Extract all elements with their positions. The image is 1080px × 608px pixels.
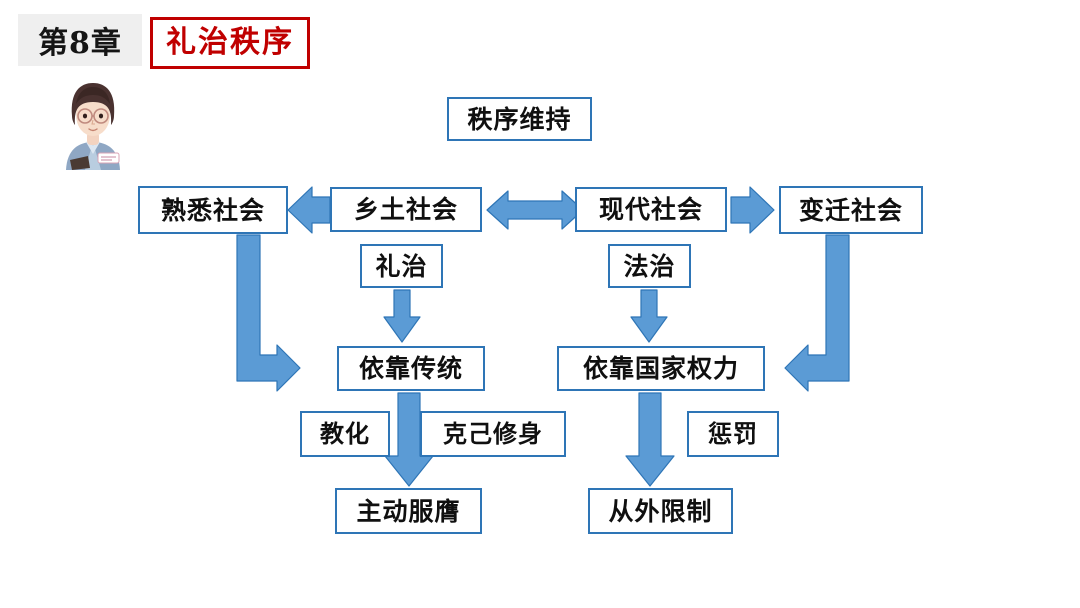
arrow-modern-to-changing bbox=[731, 187, 774, 233]
node-rural-society[interactable]: 乡土社会 bbox=[330, 187, 482, 232]
node-label: 从外限制 bbox=[608, 499, 712, 524]
node-punishment[interactable]: 惩罚 bbox=[687, 411, 779, 457]
node-rely-on-state-power[interactable]: 依靠国家权力 bbox=[557, 346, 765, 391]
arrow-rites-to-tradition bbox=[384, 290, 420, 342]
node-rule-by-law[interactable]: 法治 bbox=[608, 244, 691, 288]
node-familiar-society[interactable]: 熟悉社会 bbox=[138, 186, 288, 234]
arrow-changing-to-state-power-elbow bbox=[785, 235, 849, 391]
node-label: 变迁社会 bbox=[799, 198, 903, 223]
page-title: 礼治秩序 bbox=[166, 28, 294, 58]
node-label: 礼治 bbox=[375, 254, 427, 279]
node-label: 惩罚 bbox=[708, 422, 758, 446]
node-active-submission[interactable]: 主动服膺 bbox=[335, 488, 482, 534]
chapter-badge: 第8章 bbox=[18, 14, 142, 66]
node-label: 教化 bbox=[320, 422, 370, 446]
node-label: 现代社会 bbox=[599, 197, 703, 222]
arrow-state-power-to-restraint bbox=[626, 393, 674, 486]
node-changing-society[interactable]: 变迁社会 bbox=[779, 186, 923, 234]
avatar-icon bbox=[58, 76, 128, 170]
node-education[interactable]: 教化 bbox=[300, 411, 390, 457]
node-label: 克己修身 bbox=[443, 422, 543, 446]
connector-arrow-layer bbox=[0, 0, 1080, 608]
node-label: 法治 bbox=[623, 254, 675, 279]
arrow-rural-to-familiar bbox=[288, 187, 330, 233]
node-label: 熟悉社会 bbox=[161, 198, 265, 223]
node-label: 秩序维持 bbox=[467, 107, 571, 132]
node-label: 主动服膺 bbox=[356, 499, 460, 524]
arrow-rural-modern-double bbox=[487, 191, 583, 229]
slide-canvas: 第8章 礼治秩序 bbox=[0, 0, 1080, 608]
node-external-restraint[interactable]: 从外限制 bbox=[588, 488, 733, 534]
node-label: 依靠国家权力 bbox=[583, 356, 739, 381]
node-rule-by-rites[interactable]: 礼治 bbox=[360, 244, 443, 288]
node-rely-on-tradition[interactable]: 依靠传统 bbox=[337, 346, 485, 391]
node-order-maintenance[interactable]: 秩序维持 bbox=[447, 97, 592, 141]
slide-title-box: 礼治秩序 bbox=[150, 17, 310, 69]
node-modern-society[interactable]: 现代社会 bbox=[575, 187, 727, 232]
chapter-label: 第8章 bbox=[38, 18, 122, 62]
node-label: 依靠传统 bbox=[359, 356, 463, 381]
node-self-discipline[interactable]: 克己修身 bbox=[420, 411, 566, 457]
arrow-law-to-state-power bbox=[631, 290, 667, 342]
teacher-avatar bbox=[58, 76, 128, 170]
arrow-familiar-to-tradition-elbow bbox=[237, 235, 300, 391]
node-label: 乡土社会 bbox=[354, 197, 458, 222]
